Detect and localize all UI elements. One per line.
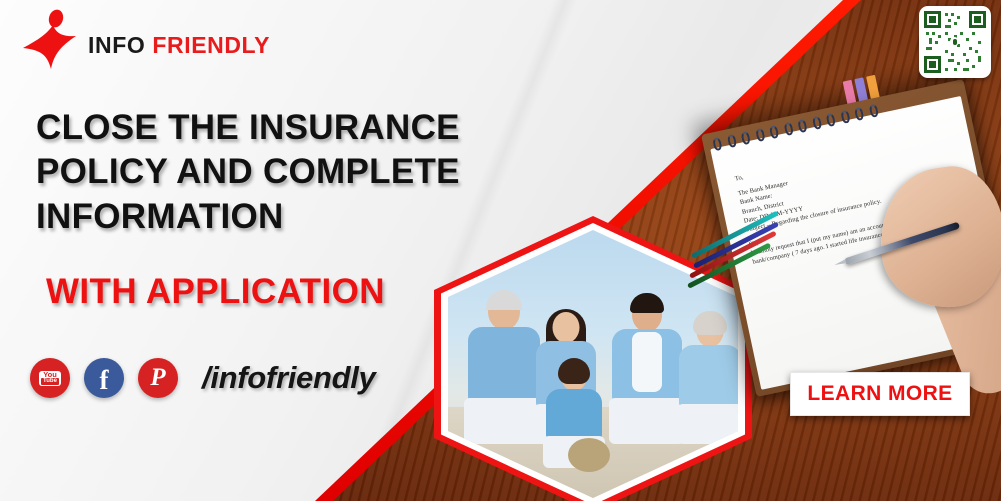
headline-line-1: CLOSE THE INSURANCE bbox=[36, 106, 556, 150]
spiral-ring bbox=[854, 107, 865, 121]
spiral-ring bbox=[740, 131, 751, 145]
brand-logo[interactable]: INFO FRIENDLY bbox=[20, 9, 270, 71]
learn-more-label: LEARN MORE bbox=[807, 382, 952, 406]
social-links: You Tube f P /infofriendly bbox=[30, 358, 376, 398]
headline-subhead: WITH APPLICATION bbox=[46, 272, 385, 312]
spiral-ring bbox=[726, 134, 737, 148]
facebook-icon[interactable]: f bbox=[84, 358, 124, 398]
facebook-glyph: f bbox=[100, 365, 109, 395]
person-child bbox=[544, 362, 604, 466]
spiral-ring bbox=[755, 128, 766, 142]
spiral-ring bbox=[712, 137, 723, 151]
pinterest-glyph: P bbox=[150, 365, 165, 391]
brand-name-friendly: FRIENDLY bbox=[152, 32, 270, 58]
youtube-label-top: You bbox=[43, 371, 57, 378]
spiral-ring bbox=[769, 125, 780, 139]
spiral-ring bbox=[840, 110, 851, 124]
star-person-icon bbox=[20, 9, 82, 71]
pinterest-icon[interactable]: P bbox=[138, 358, 178, 398]
spiral-ring bbox=[811, 116, 822, 130]
brand-wordmark: INFO FRIENDLY bbox=[88, 32, 270, 59]
brand-name-info: INFO bbox=[88, 32, 145, 58]
qr-code-icon[interactable] bbox=[919, 6, 991, 78]
spiral-ring bbox=[797, 119, 808, 133]
youtube-icon[interactable]: You Tube bbox=[30, 358, 70, 398]
spiral-ring bbox=[826, 113, 837, 127]
banner-canvas: INFO FRIENDLY CLOSE THE INSURANCE POLICY… bbox=[0, 0, 1001, 501]
person-father bbox=[610, 298, 684, 444]
youtube-label-bottom: Tube bbox=[41, 378, 59, 385]
social-handle[interactable]: /infofriendly bbox=[202, 360, 376, 396]
desk-pens bbox=[688, 214, 798, 290]
youtube-glyph: You Tube bbox=[39, 371, 61, 386]
spiral-ring bbox=[868, 104, 879, 118]
qr-pattern bbox=[924, 11, 986, 73]
person-grandmother bbox=[677, 316, 738, 444]
headline-line-2: POLICY AND COMPLETE bbox=[36, 150, 556, 194]
learn-more-button[interactable]: LEARN MORE bbox=[790, 372, 970, 416]
person-grandfather bbox=[465, 294, 543, 444]
spiral-ring bbox=[783, 122, 794, 136]
